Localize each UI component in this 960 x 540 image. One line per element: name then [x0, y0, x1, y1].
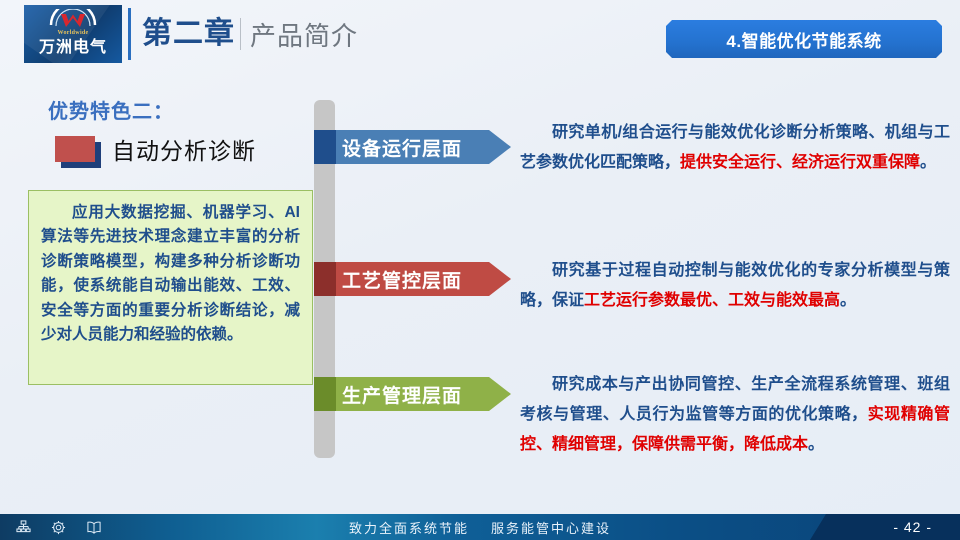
chapter-separator [240, 18, 241, 50]
footer-slogan-left: 致力全面系统节能 [349, 518, 469, 537]
arrow-body: 生产管理层面 [336, 377, 511, 411]
description-callout-text: 应用大数据挖掘、机器学习、AI算法等先进技术理念建立丰富的分析诊断策略模型，构建… [41, 201, 300, 347]
layer-text-highlight: 提供安全运行、经济运行双重保障 [680, 154, 920, 171]
logo-company-name: 万洲电气 [24, 38, 122, 58]
auto-diagnosis-heading: 自动分析诊断 [55, 134, 305, 170]
slide-root: Worldwide 万洲电气 第二章 产品简介 4.智能优化节能系统 优势特色二… [0, 0, 960, 540]
w-shield-logo-icon [24, 9, 122, 31]
chapter-title: 第二章 [142, 14, 235, 54]
section-badge: 4.智能优化节能系统 [666, 20, 942, 58]
arrow-stub [314, 262, 336, 296]
footer-slogan-right: 服务能管中心建设 [491, 518, 611, 537]
layer-text-equipment: 研究单机/组合运行与能效优化诊断分析策略、机组与工艺参数优化匹配策略，提供安全运… [520, 118, 950, 178]
layer-text-tail: 。 [808, 436, 824, 453]
header-divider [128, 8, 131, 60]
arrow-body: 设备运行层面 [336, 130, 511, 164]
page-number: - 42 - [893, 514, 932, 540]
description-callout-box: 应用大数据挖掘、机器学习、AI算法等先进技术理念建立丰富的分析诊断策略模型，构建… [28, 190, 313, 385]
slide-header: Worldwide 万洲电气 第二章 产品简介 4.智能优化节能系统 [0, 0, 960, 72]
auto-diagnosis-label: 自动分析诊断 [112, 134, 256, 168]
layer-label-process: 工艺管控层面 [336, 266, 462, 293]
layer-text-tail: 。 [920, 154, 936, 171]
chapter-subtitle: 产品简介 [250, 16, 358, 56]
layer-label-production: 生产管理层面 [336, 381, 462, 408]
layer-text-highlight: 工艺运行参数最优、工效与能效最高 [584, 292, 840, 309]
logo-subtext: Worldwide [24, 30, 122, 36]
arrow-stub [314, 130, 336, 164]
layer-text-production: 研究成本与产出协同管控、生产全流程系统管理、班组考核与管理、人员行为监管等方面的… [520, 370, 950, 460]
company-logo: Worldwide 万洲电气 [24, 5, 122, 63]
arrow-body: 工艺管控层面 [336, 262, 511, 296]
feature-title: 优势特色二： [48, 95, 174, 124]
layer-text-tail: 。 [840, 292, 856, 309]
slide-footer: 致力全面系统节能 服务能管中心建设 - 42 - [0, 514, 960, 540]
arrow-stub [314, 377, 336, 411]
square-bullet-icon [55, 136, 95, 162]
layer-label-equipment: 设备运行层面 [336, 134, 462, 161]
footer-slogan: 致力全面系统节能 服务能管中心建设 [0, 514, 960, 540]
layer-text-process: 研究基于过程自动控制与能效优化的专家分析模型与策略，保证工艺运行参数最优、工效与… [520, 256, 950, 316]
